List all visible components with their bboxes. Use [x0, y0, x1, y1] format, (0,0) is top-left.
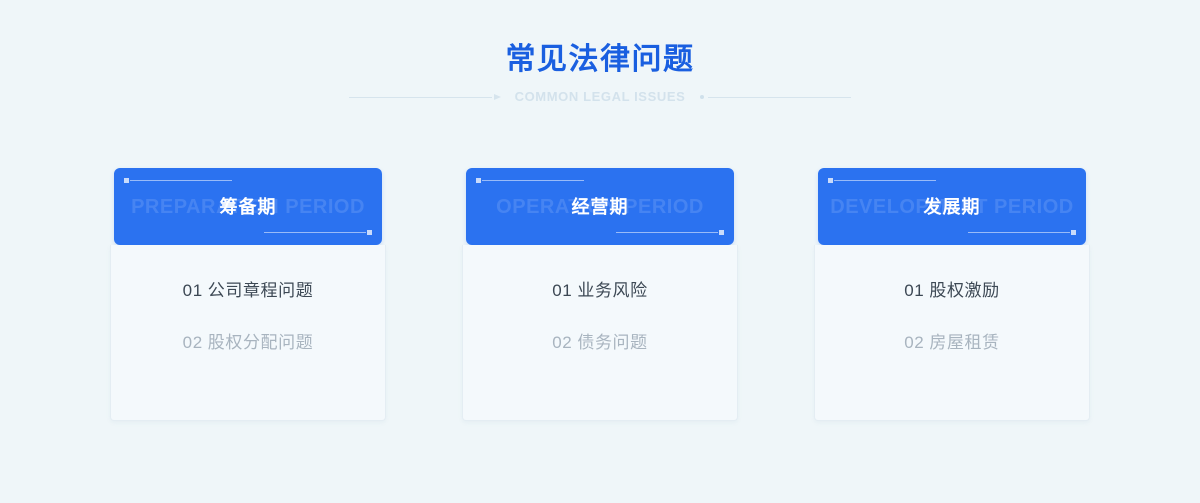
rule-line	[349, 97, 492, 98]
decoration-line	[834, 180, 936, 181]
list-item[interactable]: 02债务问题	[463, 325, 737, 361]
list-item[interactable]: 01业务风险	[463, 273, 737, 309]
issue-label: 股权激励	[929, 281, 999, 300]
square-dot-icon	[1071, 230, 1076, 235]
left-rule-arrow-icon	[349, 92, 501, 102]
issue-number: 01	[552, 281, 572, 300]
page-title: 常见法律问题	[0, 41, 1200, 79]
issue-label: 房屋租赁	[929, 333, 999, 352]
card-header[interactable]: OPERATION PERIOD 经营期	[466, 168, 734, 245]
arrow-head-icon	[494, 94, 501, 100]
decoration-line	[264, 232, 366, 233]
issue-label: 公司章程问题	[208, 281, 314, 300]
subtitle-row: COMMON LEGAL ISSUES	[0, 88, 1200, 106]
issue-label: 股权分配问题	[208, 333, 314, 352]
list-item[interactable]: 01公司章程问题	[111, 273, 385, 309]
list-item[interactable]: 02股权分配问题	[111, 325, 385, 361]
list-item[interactable]: 01股权激励	[815, 273, 1089, 309]
card-title: 经营期	[466, 195, 734, 219]
issue-card-preparation[interactable]: PREPARATION PERIOD 筹备期 01公司章程问题 02股权分配问题	[114, 168, 382, 421]
issue-card-list: PREPARATION PERIOD 筹备期 01公司章程问题 02股权分配问题	[0, 168, 1200, 421]
card-header[interactable]: PREPARATION PERIOD 筹备期	[114, 168, 382, 245]
issue-label: 债务问题	[577, 333, 647, 352]
right-rule-dot-icon	[699, 92, 851, 102]
section-header: 常见法律问题 COMMON LEGAL ISSUES	[0, 0, 1200, 106]
rule-line	[708, 97, 851, 98]
square-dot-icon	[124, 178, 129, 183]
issue-list: 01公司章程问题 02股权分配问题	[111, 273, 385, 361]
card-body: 01业务风险 02债务问题	[462, 245, 738, 421]
issue-list: 01股权激励 02房屋租赁	[815, 273, 1089, 361]
list-item[interactable]: 02房屋租赁	[815, 325, 1089, 361]
decoration-bottom-right	[616, 230, 724, 235]
card-header[interactable]: DEVELOPMENT PERIOD 发展期	[818, 168, 1086, 245]
issue-card-development[interactable]: DEVELOPMENT PERIOD 发展期 01股权激励 02房屋租赁	[818, 168, 1086, 421]
page-subtitle: COMMON LEGAL ISSUES	[501, 88, 700, 106]
issue-number: 02	[552, 333, 572, 352]
issue-number: 02	[183, 333, 203, 352]
card-title: 发展期	[818, 195, 1086, 219]
issue-number: 01	[183, 281, 203, 300]
decoration-top-left	[828, 178, 936, 183]
square-dot-icon	[828, 178, 833, 183]
issue-list: 01业务风险 02债务问题	[463, 273, 737, 361]
dot-icon	[700, 95, 704, 99]
issue-number: 01	[904, 281, 924, 300]
card-body: 01股权激励 02房屋租赁	[814, 245, 1090, 421]
issue-card-operation[interactable]: OPERATION PERIOD 经营期 01业务风险 02债务问题	[466, 168, 734, 421]
decoration-line	[968, 232, 1070, 233]
decoration-line	[130, 180, 232, 181]
square-dot-icon	[719, 230, 724, 235]
decoration-bottom-right	[264, 230, 372, 235]
decoration-bottom-right	[968, 230, 1076, 235]
square-dot-icon	[476, 178, 481, 183]
issue-label: 业务风险	[577, 281, 647, 300]
decoration-line	[616, 232, 718, 233]
decoration-top-left	[124, 178, 232, 183]
decoration-line	[482, 180, 584, 181]
issue-number: 02	[904, 333, 924, 352]
card-body: 01公司章程问题 02股权分配问题	[110, 245, 386, 421]
decoration-top-left	[476, 178, 584, 183]
card-title: 筹备期	[114, 195, 382, 219]
square-dot-icon	[367, 230, 372, 235]
